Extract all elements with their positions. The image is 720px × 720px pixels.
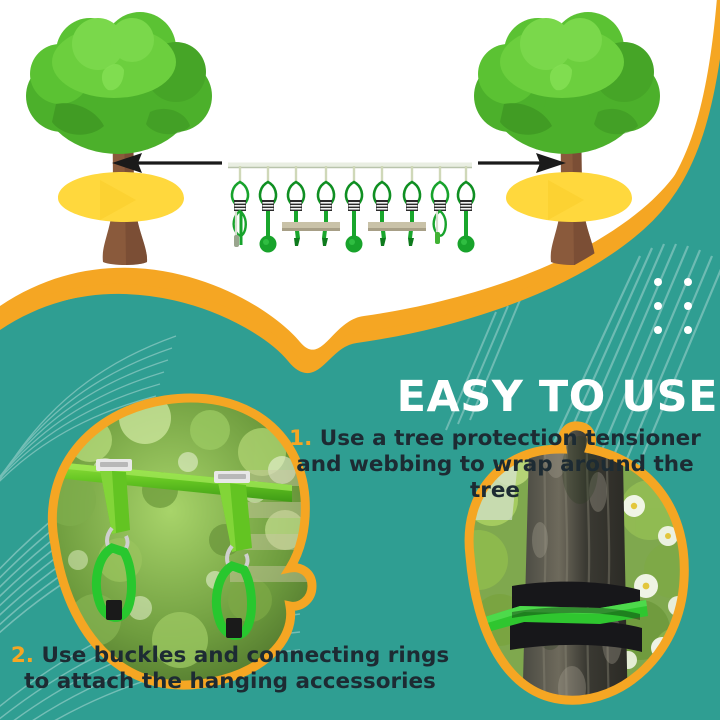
page-title: EASY TO USE [360,374,718,420]
metal-buckle-1 [96,459,132,471]
step-2-number: 2. [11,643,34,668]
photo-layer [0,0,720,720]
step-2-line-1: Use buckles and connecting rings [41,643,449,668]
step-2-text: 2. Use buckles and connecting rings to a… [6,643,454,695]
infographic-canvas: EASY TO USE 1. Use a tree protection ten… [0,0,720,720]
step-1-line-2: and webbing to wrap around the tree [272,452,718,504]
step-2-line-2: to attach the hanging accessories [6,669,454,695]
step-1-text: 1. Use a tree protection tensioner and w… [272,426,718,504]
step-1-number: 1. [289,426,312,451]
metal-buckle-2 [214,471,250,483]
step-1-line-1: Use a tree protection tensioner [320,426,701,451]
